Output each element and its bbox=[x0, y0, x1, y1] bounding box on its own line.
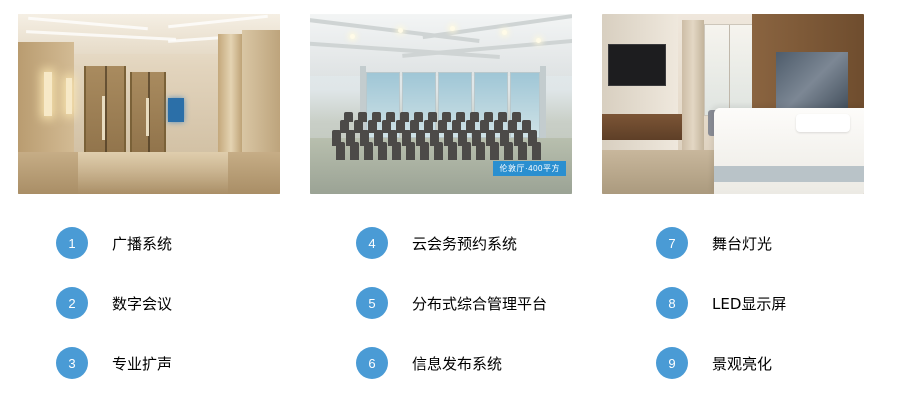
item-number-badge: 2 bbox=[56, 287, 88, 319]
item-number-badge: 6 bbox=[356, 347, 388, 379]
list-item-label: 舞台灯光 bbox=[712, 233, 772, 254]
feature-column-2: 4 云会务预约系统 5 分布式综合管理平台 6 信息发布系统 bbox=[300, 212, 600, 402]
list-item-label: 专业扩声 bbox=[112, 353, 172, 374]
page-root: 伦敦厅·400平方 bbox=[0, 0, 900, 414]
list-item-label: 广播系统 bbox=[112, 233, 172, 254]
list-item[interactable]: 2 数字会议 bbox=[56, 286, 300, 320]
photo-row: 伦敦厅·400平方 bbox=[0, 14, 900, 194]
list-item[interactable]: 9 景观亮化 bbox=[656, 346, 900, 380]
list-item[interactable]: 1 广播系统 bbox=[56, 226, 300, 260]
list-item[interactable]: 7 舞台灯光 bbox=[656, 226, 900, 260]
elevator-lobby-photo-art bbox=[18, 14, 280, 194]
item-number-badge: 1 bbox=[56, 227, 88, 259]
conference-hall-caption: 伦敦厅·400平方 bbox=[493, 161, 566, 176]
list-item-label: 景观亮化 bbox=[712, 353, 772, 374]
item-number-badge: 7 bbox=[656, 227, 688, 259]
list-item[interactable]: 5 分布式综合管理平台 bbox=[356, 286, 600, 320]
list-item[interactable]: 4 云会务预约系统 bbox=[356, 226, 600, 260]
list-item-label: 信息发布系统 bbox=[412, 353, 502, 374]
item-number-badge: 9 bbox=[656, 347, 688, 379]
elevator-lobby-photo bbox=[18, 14, 280, 194]
item-number-badge: 5 bbox=[356, 287, 388, 319]
item-number-badge: 8 bbox=[656, 287, 688, 319]
feature-column-1: 1 广播系统 2 数字会议 3 专业扩声 bbox=[0, 212, 300, 402]
list-item[interactable]: 8 LED显示屏 bbox=[656, 286, 900, 320]
list-item-label: LED显示屏 bbox=[712, 293, 786, 314]
conference-hall-photo-art: 伦敦厅·400平方 bbox=[310, 14, 572, 194]
list-item-label: 数字会议 bbox=[112, 293, 172, 314]
guest-room-photo-art bbox=[602, 14, 864, 194]
list-item[interactable]: 3 专业扩声 bbox=[56, 346, 300, 380]
guest-room-photo bbox=[602, 14, 864, 194]
feature-column-3: 7 舞台灯光 8 LED显示屏 9 景观亮化 bbox=[600, 212, 900, 402]
item-number-badge: 4 bbox=[356, 227, 388, 259]
feature-list: 1 广播系统 2 数字会议 3 专业扩声 4 云会务预约系统 5 分布式综合管理… bbox=[0, 212, 900, 402]
list-item-label: 云会务预约系统 bbox=[412, 233, 517, 254]
list-item-label: 分布式综合管理平台 bbox=[412, 293, 547, 314]
item-number-badge: 3 bbox=[56, 347, 88, 379]
conference-hall-photo: 伦敦厅·400平方 bbox=[310, 14, 572, 194]
list-item[interactable]: 6 信息发布系统 bbox=[356, 346, 600, 380]
